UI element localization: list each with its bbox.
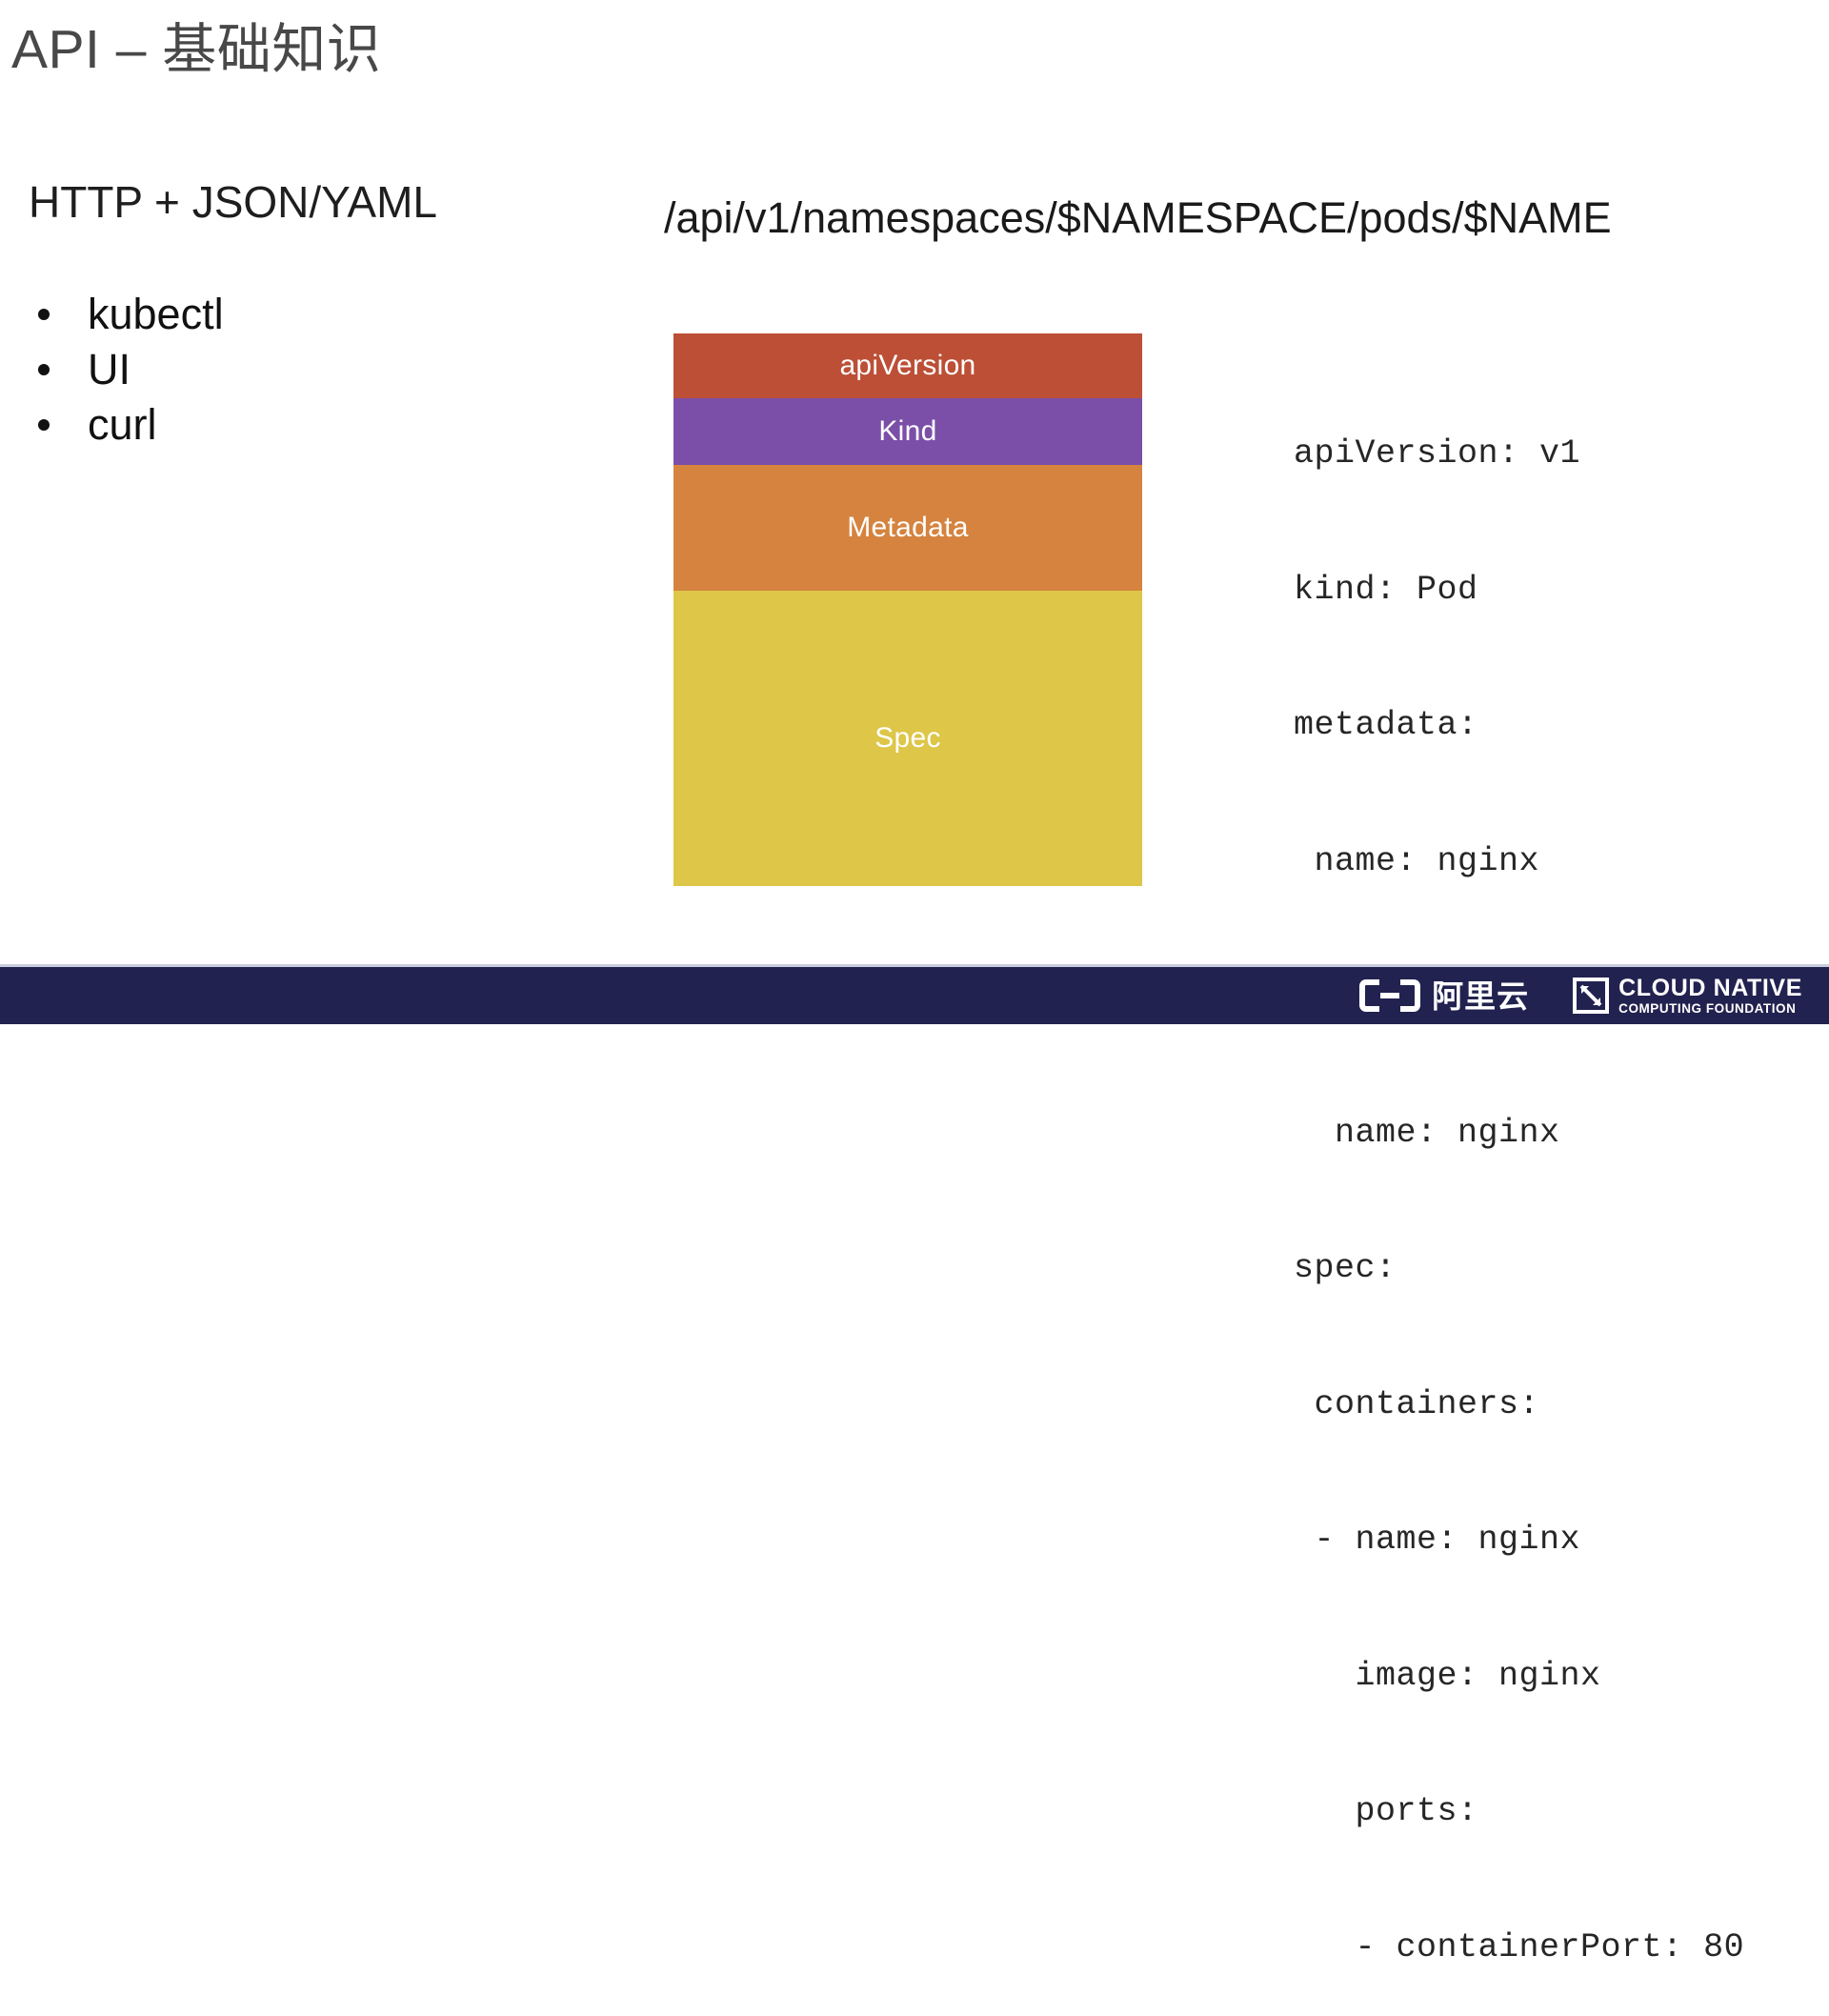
cncf-helm-icon (1573, 978, 1609, 1014)
yaml-line: name: nginx (1294, 1111, 1744, 1157)
tools-list: kubectl UI curl (29, 289, 600, 450)
left-column: HTTP + JSON/YAML kubectl UI curl (29, 176, 600, 454)
layer-block-apiversion: apiVersion (673, 333, 1142, 398)
cncf-wordmark: CLOUD NATIVE COMPUTING FOUNDATION (1618, 977, 1802, 1016)
bullet-icon (38, 309, 50, 320)
layer-block-metadata: Metadata (673, 465, 1142, 591)
layer-block-kind: Kind (673, 398, 1142, 465)
yaml-line: name: nginx (1294, 839, 1744, 885)
cncf-line-2: COMPUTING FOUNDATION (1618, 1002, 1802, 1016)
yaml-line: ports: (1294, 1789, 1744, 1835)
yaml-line: spec: (1294, 1246, 1744, 1292)
layer-label: apiVersion (839, 350, 975, 382)
aliyun-right-bracket-icon (1400, 979, 1420, 1012)
resource-layer-diagram: apiVersion Kind Metadata Spec (673, 333, 1142, 886)
page-title: API – 基础知识 (11, 6, 381, 84)
cncf-logo: CLOUD NATIVE COMPUTING FOUNDATION (1573, 977, 1802, 1016)
aliyun-dash-icon (1380, 993, 1399, 998)
yaml-example-code: apiVersion: v1 kind: Pod metadata: name:… (1294, 341, 1744, 2016)
yaml-line: - name: nginx (1294, 1518, 1744, 1563)
layer-label: Kind (878, 415, 936, 448)
cncf-line-1: CLOUD NATIVE (1618, 977, 1802, 1000)
footer-logos: 阿里云 CLOUD NATIVE COMPUTING FOUNDATION (1359, 977, 1802, 1016)
layer-block-spec: Spec (673, 591, 1142, 886)
footer-bar: 阿里云 CLOUD NATIVE COMPUTING FOUNDATION (0, 964, 1829, 1024)
yaml-line: - containerPort: 80 (1294, 1925, 1744, 1971)
list-item: curl (29, 399, 600, 450)
aliyun-bracket-icon (1359, 979, 1420, 1012)
aliyun-logo: 阿里云 (1359, 979, 1529, 1012)
yaml-line: containers: (1294, 1382, 1744, 1428)
aliyun-wordmark: 阿里云 (1432, 980, 1529, 1012)
api-path-text: /api/v1/namespaces/$NAMESPACE/pods/$NAME (664, 193, 1612, 243)
aliyun-left-bracket-icon (1359, 979, 1379, 1012)
yaml-line: apiVersion: v1 (1294, 432, 1744, 477)
protocol-heading: HTTP + JSON/YAML (29, 176, 600, 228)
yaml-line: metadata: (1294, 703, 1744, 749)
bullet-icon (38, 419, 50, 431)
yaml-line: kind: Pod (1294, 568, 1744, 614)
layer-label: Metadata (847, 512, 968, 544)
layer-label: Spec (874, 722, 941, 755)
list-item-label: UI (88, 345, 131, 393)
list-item-label: kubectl (88, 290, 224, 338)
list-item: kubectl (29, 289, 600, 339)
yaml-line: image: nginx (1294, 1654, 1744, 1700)
list-item-label: curl (88, 400, 157, 449)
list-item: UI (29, 344, 600, 394)
bullet-icon (38, 364, 50, 375)
